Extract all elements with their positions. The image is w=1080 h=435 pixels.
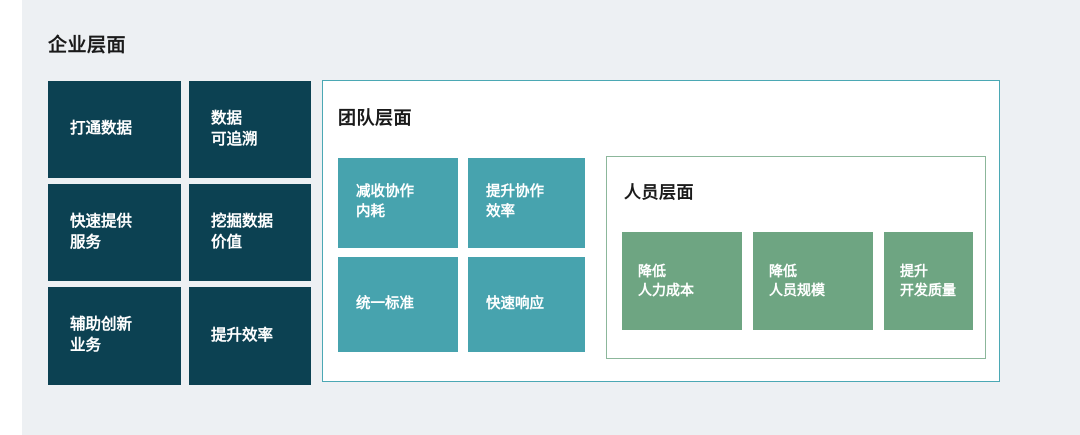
enterprise-box-data-integration[interactable]: 打通数据 [48,81,181,178]
personnel-box-reduce-headcount[interactable]: 降低 人员规模 [753,232,873,330]
personnel-box-reduce-labor-cost[interactable]: 降低 人力成本 [622,232,742,330]
enterprise-box-innovation-business[interactable]: 辅助创新 业务 [48,287,181,385]
enterprise-box-fast-service[interactable]: 快速提供 服务 [48,184,181,281]
enterprise-box-data-value[interactable]: 挖掘数据 价值 [189,184,311,281]
team-level-title: 团队层面 [338,104,412,130]
team-box-reduce-collaboration-overhead[interactable]: 减收协作 内耗 [338,158,458,248]
enterprise-box-data-traceability[interactable]: 数据 可追溯 [189,81,311,178]
team-box-improve-collaboration-efficiency[interactable]: 提升协作 效率 [468,158,585,248]
team-box-unified-standards[interactable]: 统一标准 [338,257,458,352]
personnel-level-title: 人员层面 [624,178,694,203]
team-box-fast-response[interactable]: 快速响应 [468,257,585,352]
diagram-canvas: 企业层面 打通数据 数据 可追溯 快速提供 服务 挖掘数据 价值 辅助创新 业务… [0,0,1080,435]
personnel-box-improve-dev-quality[interactable]: 提升 开发质量 [884,232,973,330]
enterprise-box-efficiency[interactable]: 提升效率 [189,287,311,385]
enterprise-level-title: 企业层面 [48,30,126,57]
